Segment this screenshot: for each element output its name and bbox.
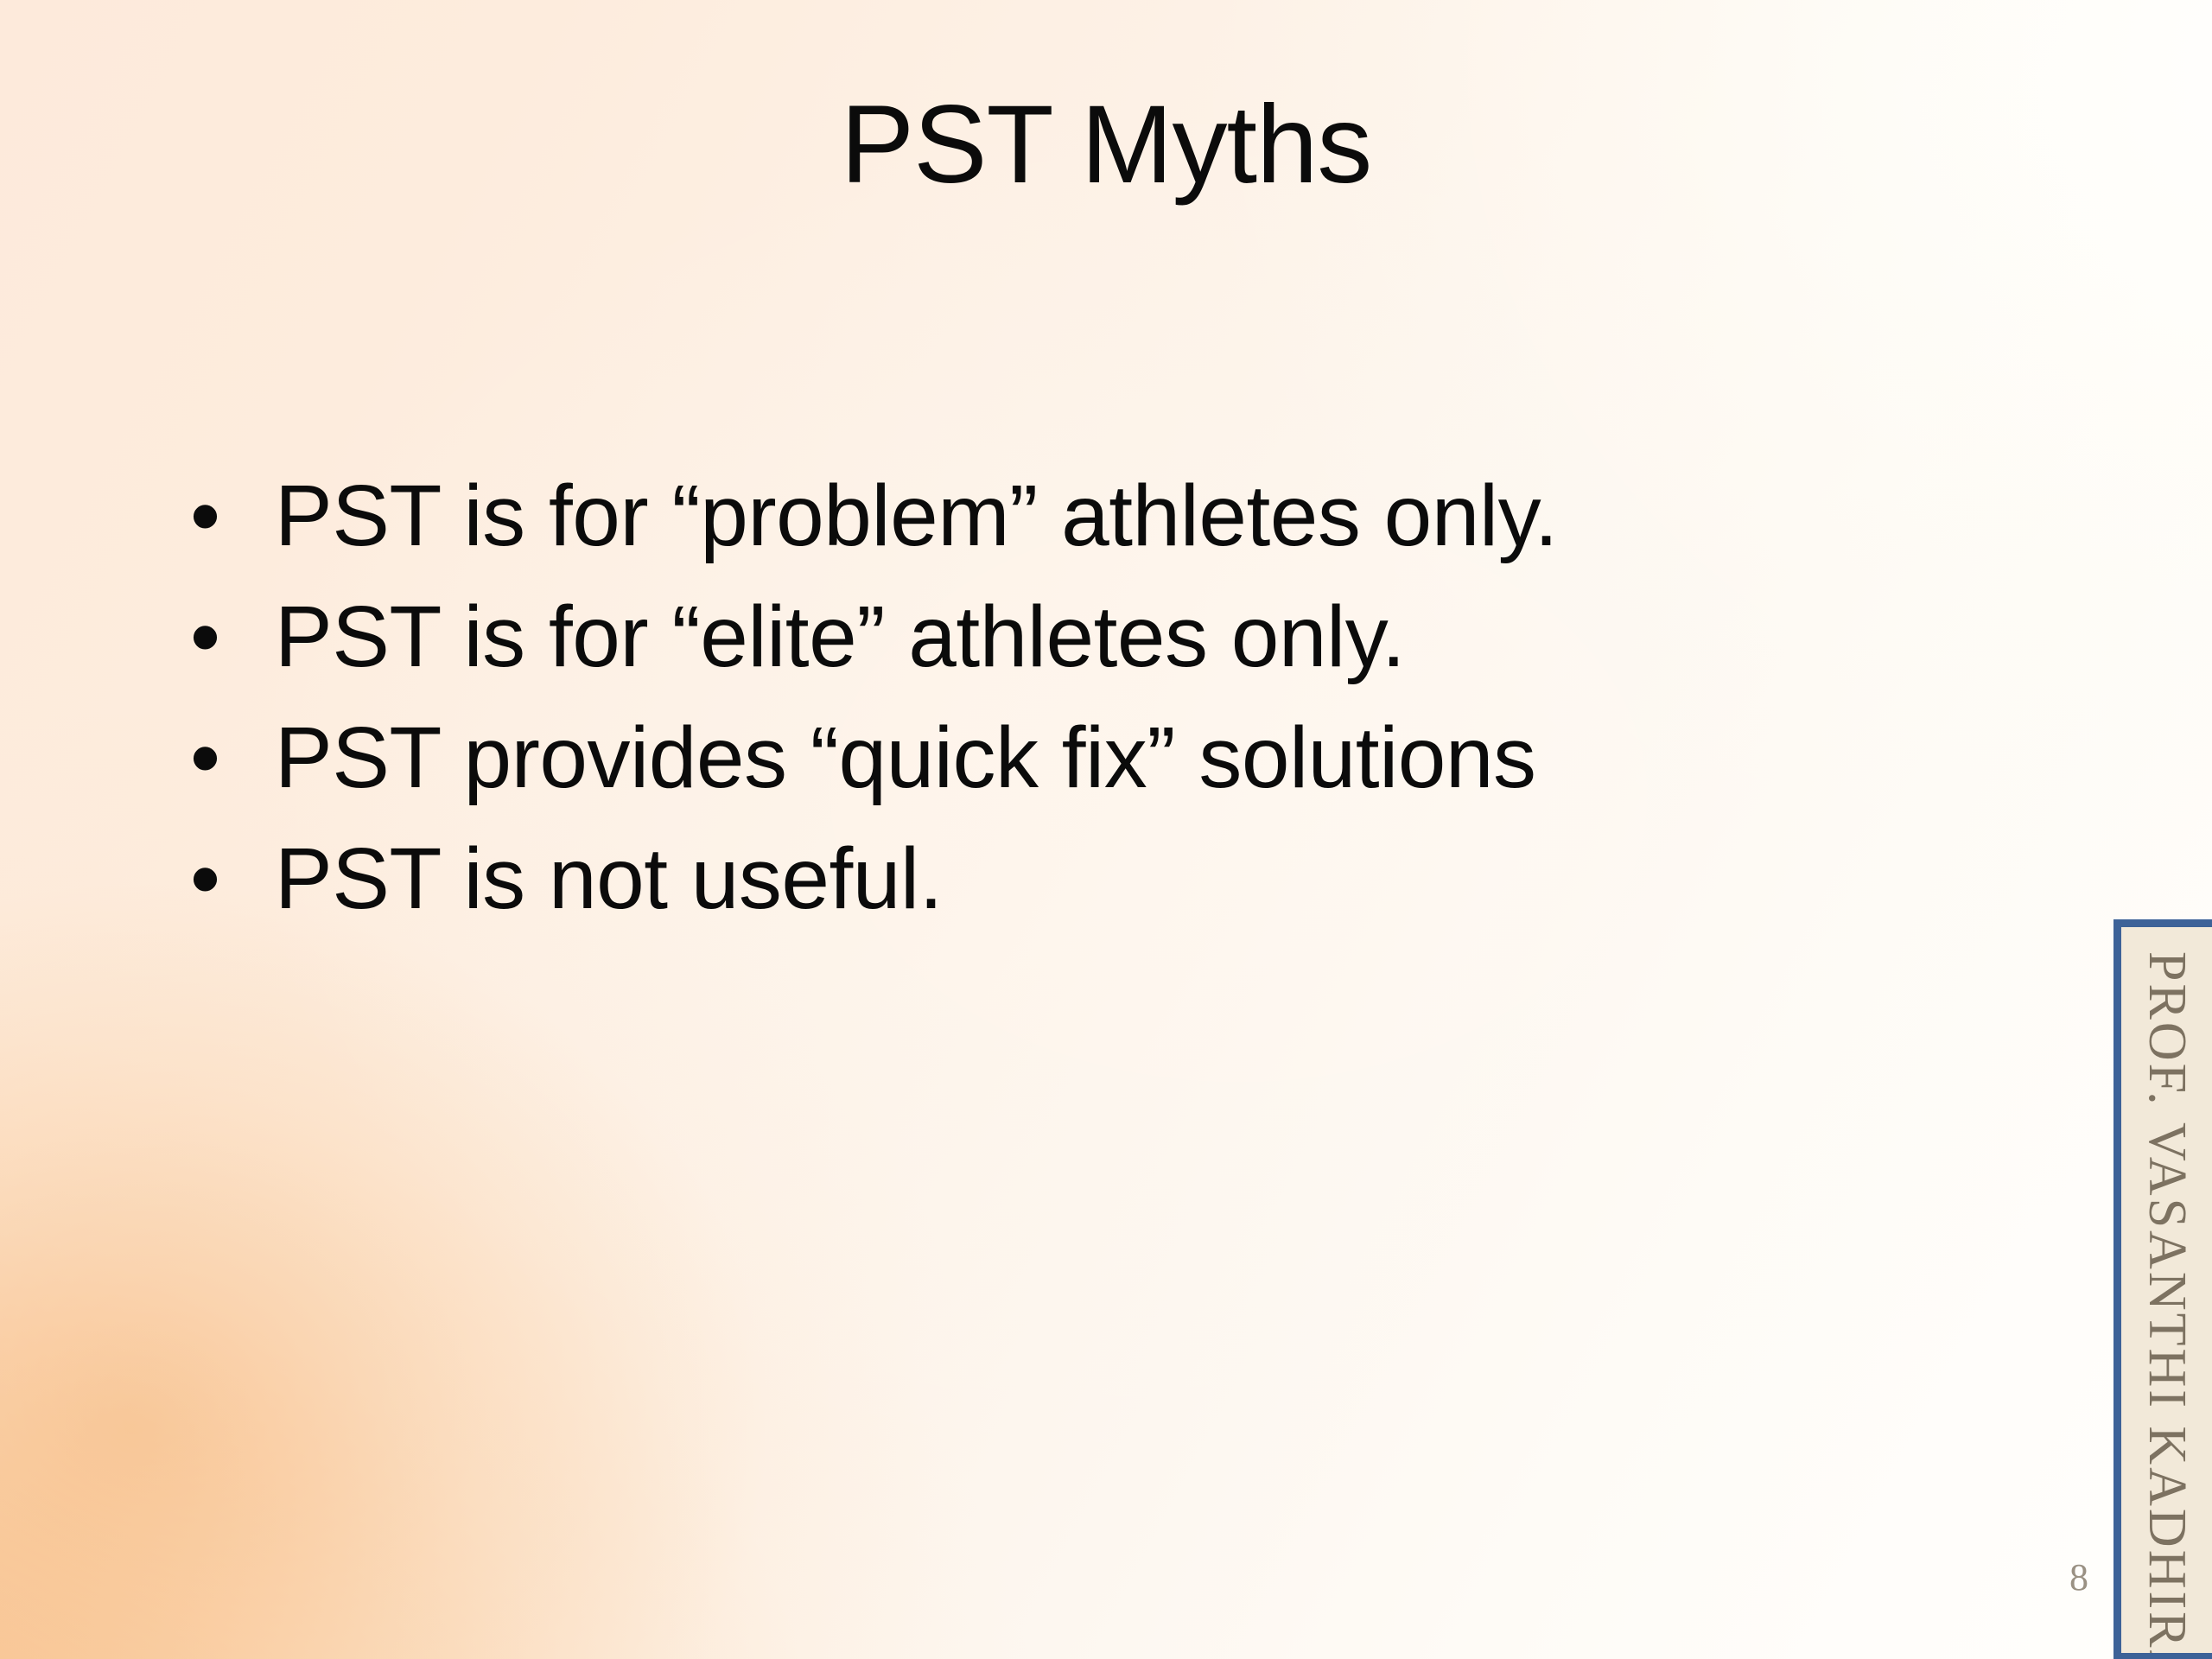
presenter-name-text: PROF. VASANTHI KADHIRAVAN: [2140, 951, 2194, 1659]
list-item: PST provides “quick fix” solutions: [183, 705, 2093, 810]
bullet-text: PST provides “quick fix” solutions: [275, 705, 2093, 810]
slide-number: 8: [2053, 1555, 2105, 1599]
bullet-text: PST is for “problem” athletes only.: [275, 463, 2093, 569]
slide-canvas: PST Myths PST is for “problem” athletes …: [0, 0, 2212, 1659]
slide-title: PST Myths: [156, 83, 2056, 207]
list-item: PST is for “problem” athletes only.: [183, 463, 2093, 569]
presenter-name-bar: PROF. VASANTHI KADHIRAVAN: [2113, 919, 2212, 1659]
bullet-text: PST is not useful.: [275, 826, 2093, 931]
bullet-text: PST is for “elite” athletes only.: [275, 584, 2093, 690]
list-item: PST is not useful.: [183, 826, 2093, 931]
presenter-name-rotator: PROF. VASANTHI KADHIRAVAN: [2113, 946, 2167, 1659]
bullet-list: PST is for “problem” athletes only. PST …: [183, 463, 2093, 947]
list-item: PST is for “elite” athletes only.: [183, 584, 2093, 690]
